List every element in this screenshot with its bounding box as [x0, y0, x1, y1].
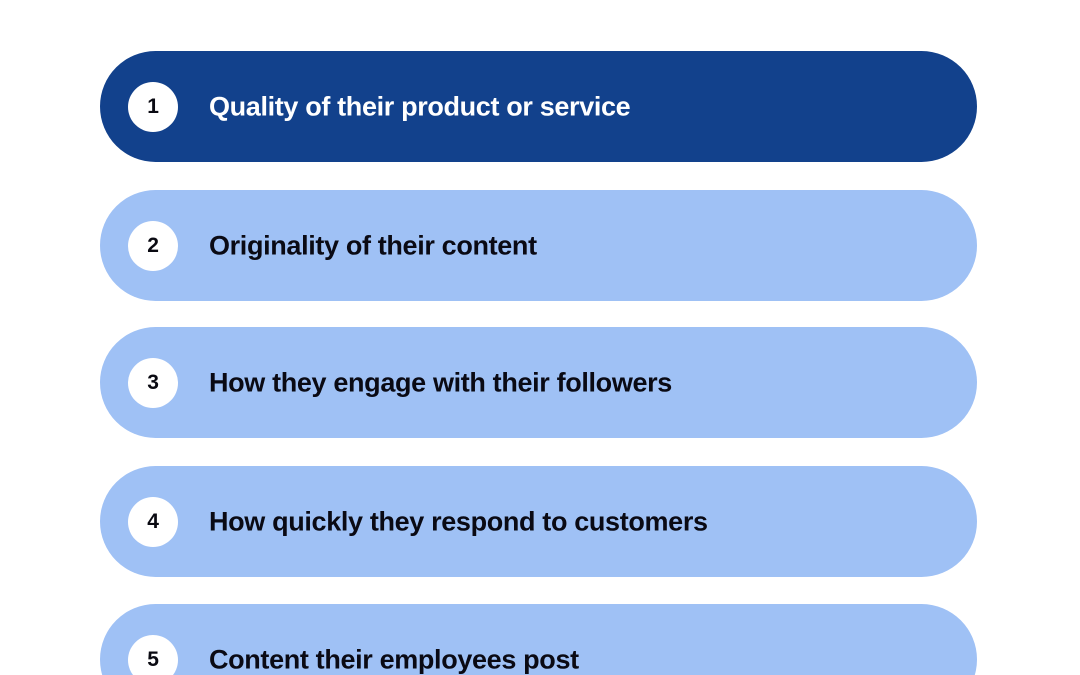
rank-label-5: Content their employees post	[209, 644, 579, 675]
rank-number-3: 3	[147, 372, 158, 393]
rank-number-2: 2	[147, 235, 158, 256]
rank-badge-2: 2	[128, 221, 178, 271]
rank-badge-1: 1	[128, 82, 178, 132]
rank-label-3: How they engage with their followers	[209, 367, 672, 398]
rank-label-4: How quickly they respond to customers	[209, 506, 708, 537]
rank-badge-4: 4	[128, 497, 178, 547]
rank-number-5: 5	[147, 649, 158, 670]
rank-number-1: 1	[147, 96, 158, 117]
rank-number-4: 4	[147, 511, 158, 532]
infographic-canvas: 1 Quality of their product or service 2 …	[0, 0, 1080, 675]
rank-row-2[interactable]: 2 Originality of their content	[100, 190, 977, 301]
rank-row-5[interactable]: 5 Content their employees post	[100, 604, 977, 675]
rank-label-1: Quality of their product or service	[209, 91, 630, 122]
rank-badge-3: 3	[128, 358, 178, 408]
rank-row-1[interactable]: 1 Quality of their product or service	[100, 51, 977, 162]
rank-label-2: Originality of their content	[209, 230, 537, 261]
rank-row-4[interactable]: 4 How quickly they respond to customers	[100, 466, 977, 577]
rank-badge-5: 5	[128, 635, 178, 675]
rank-row-3[interactable]: 3 How they engage with their followers	[100, 327, 977, 438]
